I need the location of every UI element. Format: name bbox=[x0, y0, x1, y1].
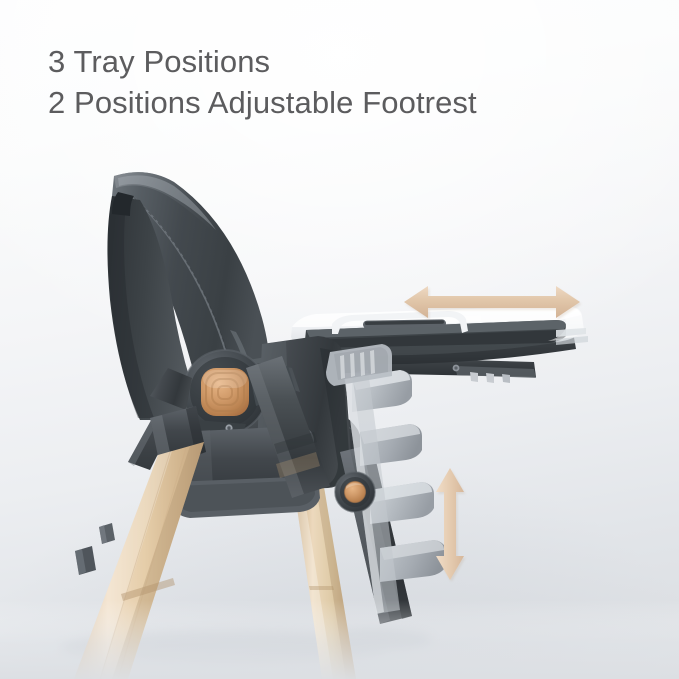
bottom-fade bbox=[0, 600, 679, 679]
headline-line-2: 2 Positions Adjustable Footrest bbox=[48, 82, 477, 123]
footrest-hub[interactable] bbox=[335, 472, 375, 512]
headline-line-1: 3 Tray Positions bbox=[48, 44, 270, 79]
leg-clip bbox=[75, 523, 115, 575]
page-title: 3 Tray Positions 2 Positions Adjustable … bbox=[48, 41, 477, 123]
product-feature-image: 3 Tray Positions 2 Positions Adjustable … bbox=[0, 0, 679, 679]
